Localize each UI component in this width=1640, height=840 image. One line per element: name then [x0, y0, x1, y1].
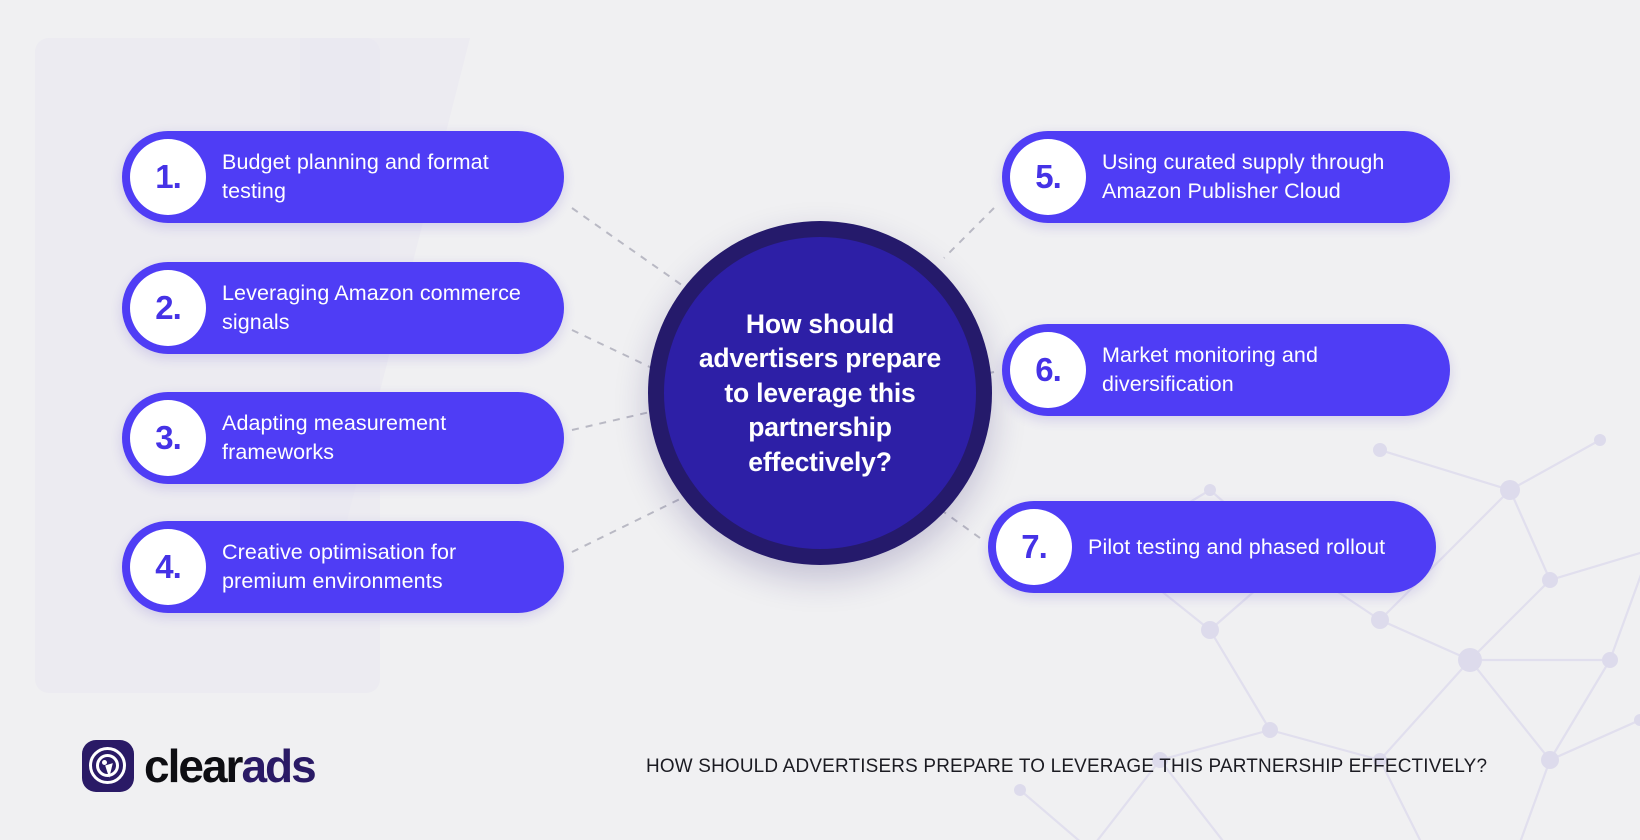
item-number-badge: 6.	[1010, 332, 1086, 408]
item-number-badge: 1.	[130, 139, 206, 215]
item-label: Using curated supply through Amazon Publ…	[1102, 148, 1450, 205]
list-item[interactable]: 6. Market monitoring and diversification	[1002, 324, 1450, 416]
infographic-canvas: How should advertisers prepare to levera…	[0, 0, 1640, 840]
item-label: Adapting measurement frameworks	[222, 409, 564, 466]
item-label: Budget planning and format testing	[222, 148, 564, 205]
network-constellation-graphic	[910, 430, 1640, 840]
list-item[interactable]: 7. Pilot testing and phased rollout	[988, 501, 1436, 593]
logo-wordmark: clearads	[144, 743, 315, 789]
logo-word-clear: clear	[144, 740, 241, 792]
target-cursor-icon	[82, 740, 134, 792]
connector-line-2	[572, 330, 652, 368]
list-item[interactable]: 1. Budget planning and format testing	[122, 131, 564, 223]
item-number-badge: 3.	[130, 400, 206, 476]
item-number-badge: 4.	[130, 529, 206, 605]
center-question-text: How should advertisers prepare to levera…	[678, 307, 962, 479]
connector-line-4	[572, 498, 682, 552]
logo-word-ads: ads	[241, 740, 314, 792]
list-item[interactable]: 3. Adapting measurement frameworks	[122, 392, 564, 484]
list-item[interactable]: 4. Creative optimisation for premium env…	[122, 521, 564, 613]
footer-caption: HOW SHOULD ADVERTISERS PREPARE TO LEVERA…	[646, 755, 1487, 778]
item-label: Pilot testing and phased rollout	[1088, 533, 1407, 562]
connector-line-3	[572, 412, 650, 430]
item-number-badge: 5.	[1010, 139, 1086, 215]
item-label: Market monitoring and diversification	[1102, 341, 1450, 398]
list-item[interactable]: 2. Leveraging Amazon commerce signals	[122, 262, 564, 354]
item-label: Creative optimisation for premium enviro…	[222, 538, 564, 595]
list-item[interactable]: 5. Using curated supply through Amazon P…	[1002, 131, 1450, 223]
center-question-node: How should advertisers prepare to levera…	[648, 221, 992, 565]
connector-line-5	[944, 208, 994, 258]
center-node-inner: How should advertisers prepare to levera…	[664, 237, 976, 549]
connector-line-1	[572, 208, 686, 288]
item-number-badge: 7.	[996, 509, 1072, 585]
item-number-badge: 2.	[130, 270, 206, 346]
clearads-logo: clearads	[82, 740, 315, 792]
item-label: Leveraging Amazon commerce signals	[222, 279, 564, 336]
